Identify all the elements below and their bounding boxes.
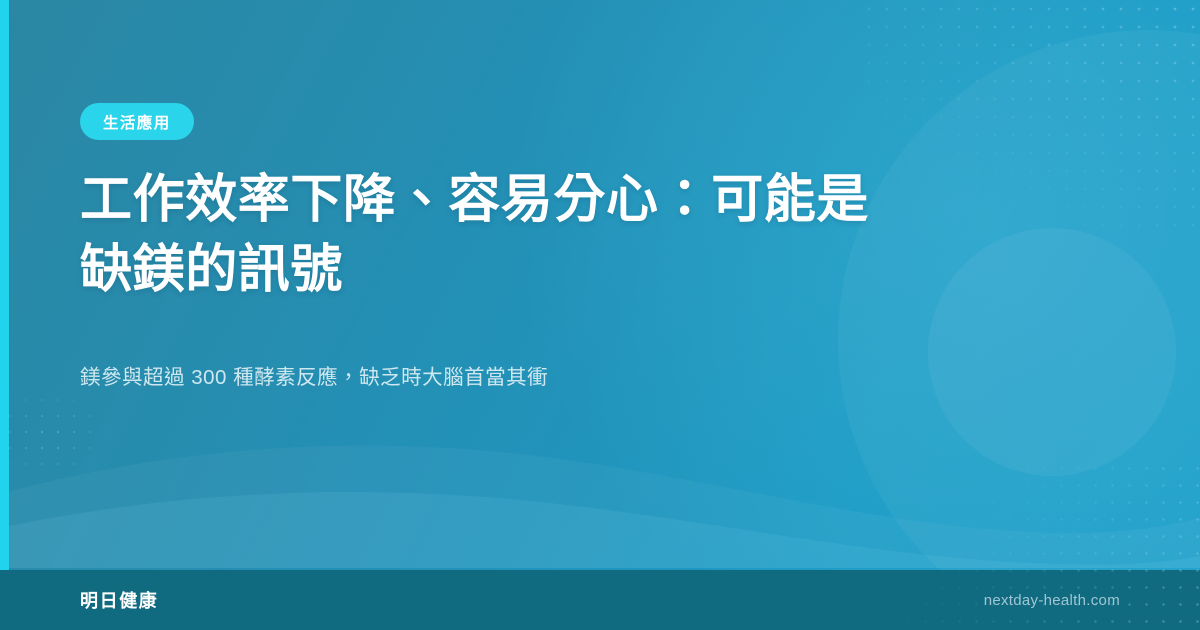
category-badge[interactable]: 生活應用 xyxy=(80,103,194,140)
footer-brand-name: 明日健康 xyxy=(80,587,158,613)
footer-site-url[interactable]: nextday-health.com xyxy=(984,592,1120,609)
page-subtitle: 鎂參與超過 300 種酵素反應，缺乏時大腦首當其衝 xyxy=(80,362,920,395)
card-content: 生活應用 工作效率下降、容易分心：可能是缺鎂的訊號 鎂參與超過 300 種酵素反… xyxy=(0,0,1200,570)
social-share-card: 生活應用 工作效率下降、容易分心：可能是缺鎂的訊號 鎂參與超過 300 種酵素反… xyxy=(0,0,1200,630)
footer-bar: 明日健康 nextday-health.com xyxy=(0,570,1200,630)
page-title: 工作效率下降、容易分心：可能是缺鎂的訊號 xyxy=(80,166,910,305)
